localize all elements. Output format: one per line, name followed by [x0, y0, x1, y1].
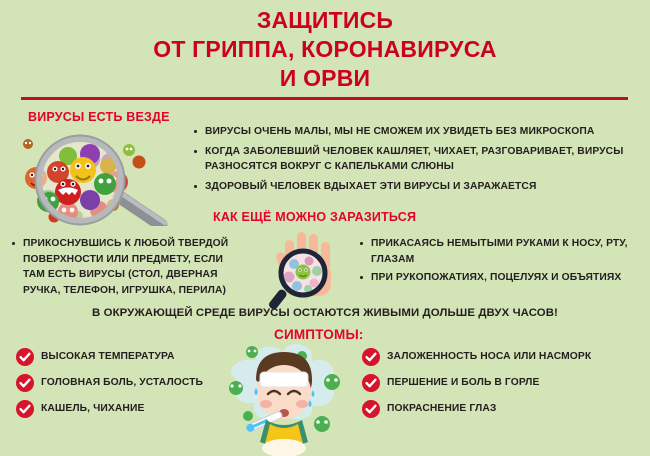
title-line-2: ОТ ГРИППА, КОРОНАВИРУСА	[0, 35, 650, 64]
check-circle-icon	[362, 374, 380, 392]
sick-boy-with-thermometer-illustration	[218, 336, 363, 456]
title-line-1: ЗАЩИТИСЬ	[0, 6, 650, 35]
list-item: ЗДОРОВЫЙ ЧЕЛОВЕК ВДЫХАЕТ ЭТИ ВИРУСЫ И ЗА…	[192, 179, 644, 195]
title-line-3: И ОРВИ	[0, 64, 650, 93]
list-item: КОГДА ЗАБОЛЕВШИЙ ЧЕЛОВЕК КАШЛЯЕТ, ЧИХАЕТ…	[192, 144, 644, 175]
list-item: ЗАЛОЖЕННОСТЬ НОСА ИЛИ НАСМОРК	[362, 344, 637, 370]
survival-statement: В ОКРУЖАЮЩЕЙ СРЕДЕ ВИРУСЫ ОСТАЮТСЯ ЖИВЫМ…	[0, 307, 650, 319]
list-item: ПЕРШЕНИЕ И БОЛЬ В ГОРЛЕ	[362, 370, 637, 396]
germs-under-magnifier-illustration	[6, 126, 186, 226]
symptom-label: ЗАЛОЖЕННОСТЬ НОСА ИЛИ НАСМОРК	[387, 351, 591, 362]
list-symptoms-right: ЗАЛОЖЕННОСТЬ НОСА ИЛИ НАСМОРК ПЕРШЕНИЕ И…	[362, 344, 637, 422]
list-item: КАШЕЛЬ, ЧИХАНИЕ	[16, 396, 216, 422]
list-item: ПРИКОСНУВШИСЬ К ЛЮБОЙ ТВЕРДОЙ ПОВЕРХНОСТ…	[10, 236, 235, 298]
list-item: ГОЛОВНАЯ БОЛЬ, УСТАЛОСТЬ	[16, 370, 216, 396]
page-title: ЗАЩИТИСЬ ОТ ГРИППА, КОРОНАВИРУСА И ОРВИ	[0, 6, 650, 93]
symptom-label: КАШЕЛЬ, ЧИХАНИЕ	[41, 403, 144, 414]
list-item: ВЫСОКАЯ ТЕМПЕРАТУРА	[16, 344, 216, 370]
hand-with-germs-magnifier-illustration	[253, 228, 358, 310]
list-item: ПОКРАСНЕНИЕ ГЛАЗ	[362, 396, 637, 422]
section-heading-viruses-everywhere: ВИРУСЫ ЕСТЬ ВЕЗДЕ	[28, 110, 170, 124]
symptom-label: ГОЛОВНАЯ БОЛЬ, УСТАЛОСТЬ	[41, 377, 203, 388]
title-divider	[21, 97, 628, 100]
infographic-poster: ЗАЩИТИСЬ ОТ ГРИППА, КОРОНАВИРУСА И ОРВИ …	[0, 0, 650, 456]
check-circle-icon	[16, 400, 34, 418]
list-contact-hands: ПРИКАСАЯСЬ НЕМЫТЫМИ РУКАМИ К НОСУ, РТУ, …	[358, 236, 648, 289]
list-item: ПРИКАСАЯСЬ НЕМЫТЫМИ РУКАМИ К НОСУ, РТУ, …	[358, 236, 648, 267]
list-contact-surfaces: ПРИКОСНУВШИСЬ К ЛЮБОЙ ТВЕРДОЙ ПОВЕРХНОСТ…	[10, 236, 235, 300]
check-circle-icon	[362, 400, 380, 418]
section-heading-how-else-infected: КАК ЕЩЁ МОЖНО ЗАРАЗИТЬСЯ	[213, 210, 416, 224]
check-circle-icon	[16, 348, 34, 366]
symptom-label: ПОКРАСНЕНИЕ ГЛАЗ	[387, 403, 496, 414]
symptom-label: ПЕРШЕНИЕ И БОЛЬ В ГОРЛЕ	[387, 377, 539, 388]
check-circle-icon	[362, 348, 380, 366]
list-virus-spread: ВИРУСЫ ОЧЕНЬ МАЛЫ, МЫ НЕ СМОЖЕМ ИХ УВИДЕ…	[192, 124, 644, 198]
list-item: ПРИ РУКОПОЖАТИЯХ, ПОЦЕЛУЯХ И ОБЪЯТИЯХ	[358, 270, 648, 286]
list-item: ВИРУСЫ ОЧЕНЬ МАЛЫ, МЫ НЕ СМОЖЕМ ИХ УВИДЕ…	[192, 124, 644, 140]
symptom-label: ВЫСОКАЯ ТЕМПЕРАТУРА	[41, 351, 175, 362]
check-circle-icon	[16, 374, 34, 392]
list-symptoms-left: ВЫСОКАЯ ТЕМПЕРАТУРА ГОЛОВНАЯ БОЛЬ, УСТАЛ…	[16, 344, 216, 422]
